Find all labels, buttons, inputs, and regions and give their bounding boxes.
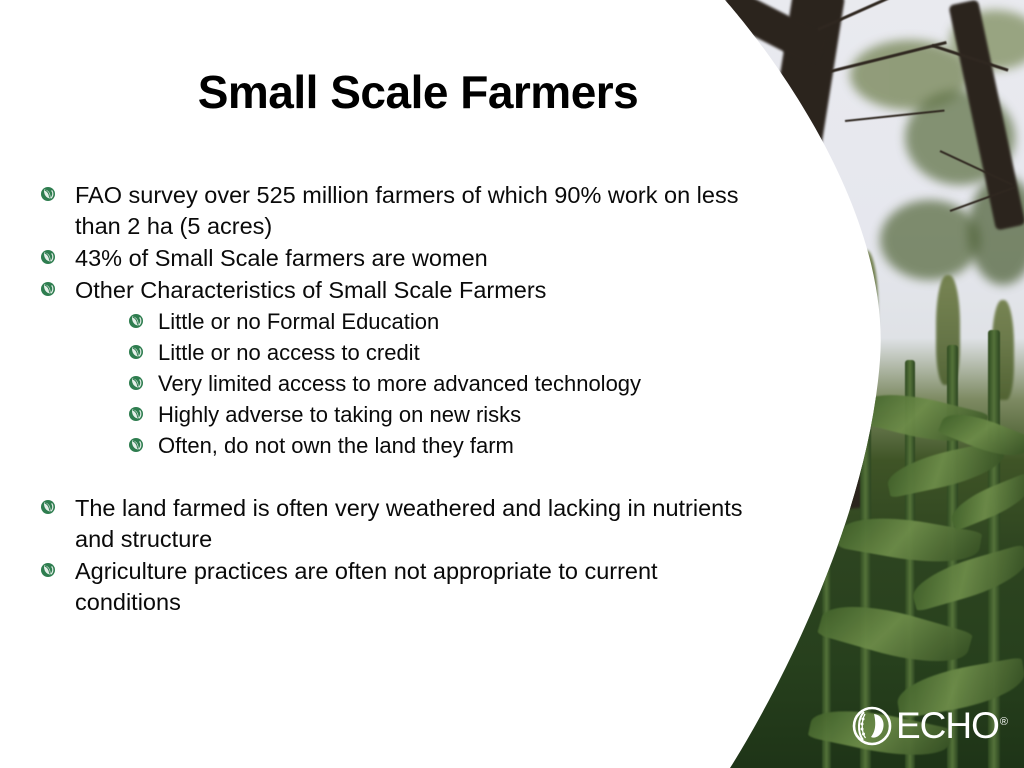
maize-tassel: [852, 250, 878, 370]
echo-seed-bullet-icon: [40, 281, 56, 297]
echo-seed-bullet-icon: [40, 499, 56, 515]
echo-seed-bullet-icon: [40, 249, 56, 265]
registered-mark: ®: [1000, 716, 1007, 728]
list-item: Often, do not own the land they farm: [40, 431, 770, 461]
echo-seed-bullet-icon: [128, 344, 144, 360]
list-item-label: Highly adverse to taking on new risks: [158, 400, 521, 430]
slide-canvas: Small Scale Farmers FAO survey over 525 …: [0, 0, 1024, 768]
list-item: The land farmed is often very weathered …: [40, 493, 770, 555]
canopy-blob: [880, 200, 980, 280]
list-item: Highly adverse to taking on new risks: [40, 400, 770, 430]
echo-seed-bullet-icon: [40, 562, 56, 578]
list-item-label: Little or no access to credit: [158, 338, 420, 368]
list-item: Little or no Formal Education: [40, 307, 770, 337]
echo-wordmark-text: ECHO: [896, 705, 999, 746]
list-item-label: Other Characteristics of Small Scale Far…: [75, 275, 546, 306]
list-item: Agriculture practices are often not appr…: [40, 556, 770, 618]
list-item: 43% of Small Scale farmers are women: [40, 243, 770, 274]
list-item-label: Very limited access to more advanced tec…: [158, 369, 641, 399]
list-item: FAO survey over 525 million farmers of w…: [40, 180, 770, 242]
list-item-label: Little or no Formal Education: [158, 307, 439, 337]
echo-seed-bullet-icon: [128, 437, 144, 453]
list-item: Little or no access to credit: [40, 338, 770, 368]
echo-seed-bullet-icon: [40, 186, 56, 202]
bullet-list: FAO survey over 525 million farmers of w…: [40, 180, 770, 619]
echo-seed-bullet-icon: [128, 313, 144, 329]
echo-seed-bullet-icon: [128, 375, 144, 391]
blank-line: [40, 462, 770, 493]
tree-trunk: [797, 248, 865, 511]
list-item-label: Often, do not own the land they farm: [158, 431, 514, 461]
echo-globe-leaf-icon: [852, 706, 892, 746]
echo-logo: ECHO®: [852, 702, 1007, 750]
list-item-label: The land farmed is often very weathered …: [75, 493, 765, 555]
list-item-label: FAO survey over 525 million farmers of w…: [75, 180, 765, 242]
echo-wordmark: ECHO®: [896, 706, 1007, 746]
echo-seed-bullet-icon: [128, 406, 144, 422]
list-item: Very limited access to more advanced tec…: [40, 369, 770, 399]
list-item: Other Characteristics of Small Scale Far…: [40, 275, 770, 306]
page-title: Small Scale Farmers: [0, 68, 836, 116]
list-item-label: Agriculture practices are often not appr…: [75, 556, 765, 618]
list-item-label: 43% of Small Scale farmers are women: [75, 243, 488, 274]
